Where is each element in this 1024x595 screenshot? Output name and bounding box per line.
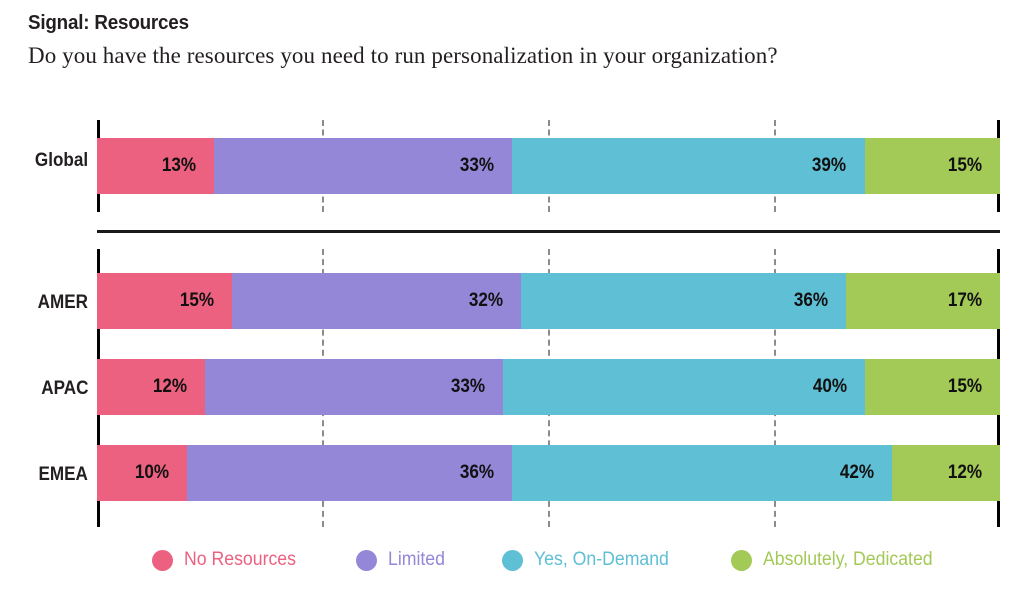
table-row[interactable]: 10% 36% 42% 12% bbox=[97, 445, 1000, 501]
bar-segment-yes-on-demand[interactable]: 40% bbox=[503, 359, 864, 415]
bar-value-label: 12% bbox=[948, 462, 982, 484]
category-label-emea: EMEA bbox=[6, 464, 88, 486]
chart-legend: No Resources Limited Yes, On-Demand Abso… bbox=[97, 540, 1000, 580]
category-label-text: Global bbox=[35, 150, 88, 172]
bar-segment-no-resources[interactable]: 15% bbox=[97, 273, 232, 329]
category-label-global: Global bbox=[6, 150, 88, 172]
bar-value-label: 32% bbox=[469, 290, 503, 312]
bar-segment-limited[interactable]: 36% bbox=[187, 445, 512, 501]
legend-item-label: Yes, On-Demand bbox=[534, 549, 669, 571]
bar-segment-absolutely-dedicated[interactable]: 17% bbox=[846, 273, 1000, 329]
bar-value-label: 40% bbox=[812, 376, 846, 398]
legend-item-yes-on-demand[interactable]: Yes, On-Demand bbox=[502, 549, 679, 571]
bar-value-label: 36% bbox=[794, 290, 828, 312]
stacked-bar-chart: 13% 33% 39% 15% Global 15% bbox=[0, 0, 1024, 595]
chart-panel-global: 13% 33% 39% 15% bbox=[97, 120, 1000, 212]
legend-item-label: Limited bbox=[388, 549, 445, 571]
table-row[interactable]: 12% 33% 40% 15% bbox=[97, 359, 1000, 415]
bar-value-label: 42% bbox=[839, 462, 873, 484]
group-divider bbox=[97, 230, 1000, 233]
chart-panel-regions: 15% 32% 36% 17% 12% 33% 40% 15% bbox=[97, 249, 1000, 527]
legend-item-no-resources[interactable]: No Resources bbox=[152, 549, 304, 571]
legend-item-limited[interactable]: Limited bbox=[356, 549, 449, 571]
bar-segment-limited[interactable]: 33% bbox=[205, 359, 503, 415]
bar-segment-yes-on-demand[interactable]: 39% bbox=[512, 138, 864, 194]
bar-segment-absolutely-dedicated[interactable]: 12% bbox=[892, 445, 1000, 501]
category-label-amer: AMER bbox=[6, 292, 88, 314]
bar-segment-no-resources[interactable]: 10% bbox=[97, 445, 187, 501]
bar-segment-limited[interactable]: 33% bbox=[214, 138, 512, 194]
bar-value-label: 15% bbox=[180, 290, 214, 312]
bar-value-label: 13% bbox=[162, 155, 196, 177]
bar-segment-absolutely-dedicated[interactable]: 15% bbox=[865, 138, 1000, 194]
legend-dot-icon bbox=[152, 550, 173, 571]
legend-item-label: No Resources bbox=[184, 549, 296, 571]
category-label-text: APAC bbox=[41, 378, 88, 400]
legend-dot-icon bbox=[356, 550, 377, 571]
bar-segment-absolutely-dedicated[interactable]: 15% bbox=[865, 359, 1000, 415]
category-label-apac: APAC bbox=[6, 378, 88, 400]
legend-item-label: Absolutely, Dedicated bbox=[763, 549, 933, 571]
bar-value-label: 33% bbox=[451, 376, 485, 398]
bar-value-label: 17% bbox=[948, 290, 982, 312]
bar-segment-yes-on-demand[interactable]: 42% bbox=[512, 445, 891, 501]
table-row[interactable]: 13% 33% 39% 15% bbox=[97, 138, 1000, 194]
table-row[interactable]: 15% 32% 36% 17% bbox=[97, 273, 1000, 329]
bar-value-label: 36% bbox=[460, 462, 494, 484]
bar-value-label: 39% bbox=[812, 155, 846, 177]
bar-value-label: 15% bbox=[948, 376, 982, 398]
bar-value-label: 33% bbox=[460, 155, 494, 177]
legend-dot-icon bbox=[731, 550, 752, 571]
category-label-text: EMEA bbox=[39, 464, 88, 486]
legend-dot-icon bbox=[502, 550, 523, 571]
bar-segment-yes-on-demand[interactable]: 36% bbox=[521, 273, 846, 329]
bar-value-label: 12% bbox=[153, 376, 187, 398]
bar-segment-limited[interactable]: 32% bbox=[232, 273, 521, 329]
legend-item-absolutely-dedicated[interactable]: Absolutely, Dedicated bbox=[731, 549, 945, 571]
bar-segment-no-resources[interactable]: 13% bbox=[97, 138, 214, 194]
bar-segment-no-resources[interactable]: 12% bbox=[97, 359, 205, 415]
bar-value-label: 10% bbox=[135, 462, 169, 484]
bar-value-label: 15% bbox=[948, 155, 982, 177]
category-label-text: AMER bbox=[38, 292, 88, 314]
